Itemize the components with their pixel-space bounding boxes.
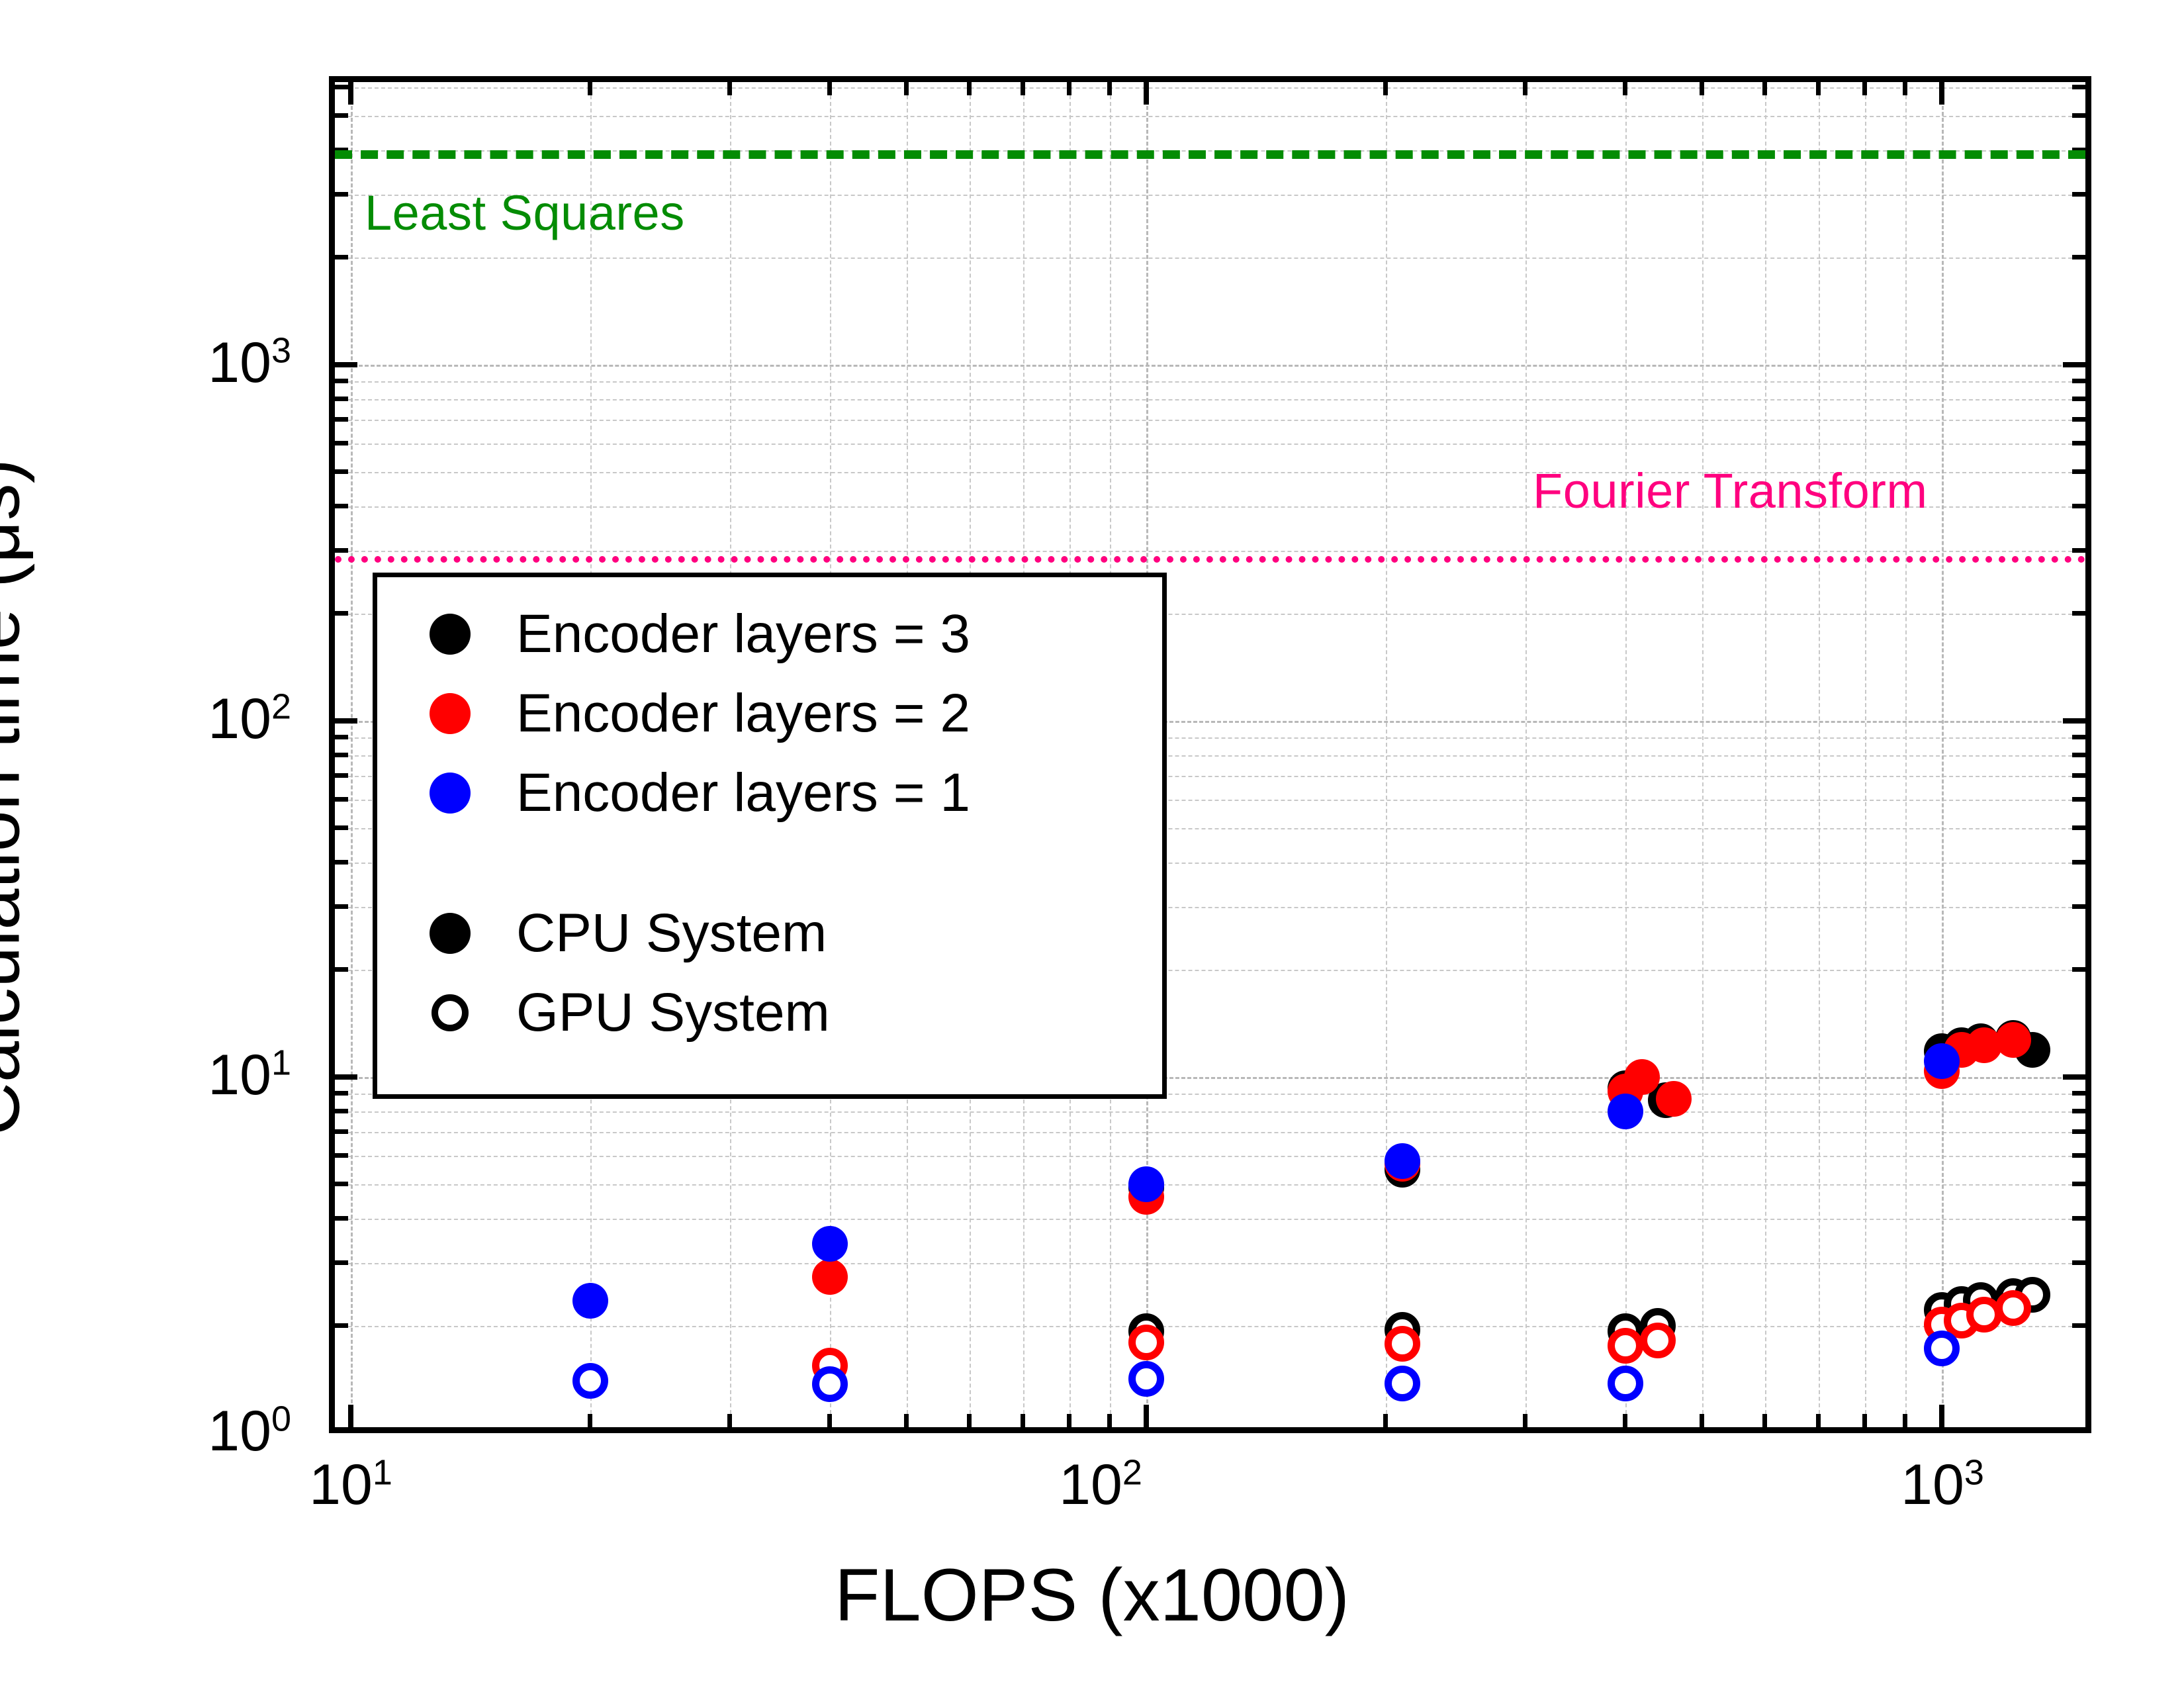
axis-tick: [335, 1129, 348, 1134]
gridline: [1386, 82, 1387, 1427]
gridline: [335, 116, 2085, 117]
axis-tick: [2063, 1074, 2085, 1080]
chart-canvas: Calculation time (μs) 103 102 101 100 10…: [0, 0, 2184, 1688]
axis-tick: [2072, 1153, 2085, 1158]
data-point: [812, 1366, 848, 1402]
fourier-transform-line: [335, 556, 2085, 563]
axis-tick: [2072, 417, 2085, 422]
data-point: [1128, 1361, 1164, 1397]
axis-tick: [335, 797, 348, 802]
axis-tick: [1903, 1414, 1907, 1427]
legend-label: GPU System: [516, 982, 830, 1044]
data-point: [1128, 1325, 1164, 1360]
axis-tick: [348, 1405, 353, 1427]
legend-label: Encoder layers = 2: [516, 682, 970, 745]
axis-tick: [2072, 1129, 2085, 1134]
axis-tick: [2072, 397, 2085, 401]
axis-tick: [335, 1182, 348, 1186]
axis-tick: [2072, 255, 2085, 259]
gridline: [335, 381, 2085, 383]
axis-tick: [1762, 1414, 1767, 1427]
axis-tick: [1523, 82, 1527, 95]
gridline: [1625, 82, 1627, 1427]
least-squares-label: Least Squares: [365, 185, 685, 241]
axis-tick: [1762, 82, 1767, 95]
axis-tick: [1383, 1414, 1388, 1427]
y-tick-label-1000: 103: [26, 334, 291, 391]
least-squares-line: [335, 150, 2085, 159]
data-point: [1656, 1081, 1692, 1117]
data-point: [812, 1259, 848, 1295]
legend-item-cpu-system[interactable]: CPU System: [384, 902, 827, 965]
legend-label: CPU System: [516, 902, 827, 964]
gridline: [335, 1184, 2085, 1186]
x-tick-label-10: 101: [218, 1456, 483, 1513]
axis-tick: [1021, 1414, 1025, 1427]
data-point: [1128, 1166, 1164, 1202]
axis-tick: [2063, 718, 2085, 724]
legend-marker-filled-circle-icon: [384, 913, 516, 954]
axis-tick: [335, 825, 348, 830]
axis-tick: [1816, 1414, 1821, 1427]
gridline: [1765, 82, 1766, 1427]
axis-tick: [2072, 85, 2085, 89]
axis-tick: [335, 548, 348, 553]
axis-tick: [904, 82, 909, 95]
axis-tick: [1383, 82, 1388, 95]
gridline: [1865, 82, 1866, 1427]
axis-tick: [1107, 82, 1112, 95]
axis-tick: [827, 1414, 832, 1427]
axis-tick: [827, 82, 832, 95]
axis-tick: [335, 1091, 348, 1096]
legend-label: Encoder layers = 1: [516, 762, 970, 824]
axis-tick: [2072, 548, 2085, 553]
gridline: [335, 87, 2085, 89]
axis-tick: [335, 469, 348, 474]
axis-tick: [1700, 1414, 1704, 1427]
axis-tick: [1067, 82, 1071, 95]
axis-tick: [335, 397, 348, 401]
data-point: [1608, 1094, 1643, 1129]
axis-tick: [1107, 1414, 1112, 1427]
legend-box: Encoder layers = 3 Encoder layers = 2 En…: [373, 573, 1167, 1099]
axis-tick: [335, 1260, 348, 1265]
axis-tick: [335, 379, 348, 383]
gridline: [335, 420, 2085, 421]
axis-tick: [2072, 825, 2085, 830]
axis-tick: [727, 1414, 732, 1427]
axis-tick: [335, 255, 348, 259]
legend-marker-red-filled-icon: [384, 693, 516, 734]
axis-tick: [1144, 82, 1149, 105]
axis-tick: [335, 611, 348, 616]
axis-tick: [335, 417, 348, 422]
axis-tick: [2072, 379, 2085, 383]
axis-tick: [335, 504, 348, 508]
axis-tick: [1862, 1414, 1867, 1427]
data-point: [1995, 1022, 2031, 1058]
axis-tick: [588, 82, 592, 95]
axis-tick: [335, 1323, 348, 1328]
data-point: [1924, 1043, 1960, 1079]
axis-tick: [2072, 192, 2085, 197]
axis-tick: [2072, 469, 2085, 474]
axis-tick: [2072, 504, 2085, 508]
gridline: [335, 1263, 2085, 1264]
axis-tick: [335, 1109, 348, 1113]
axis-tick: [967, 82, 972, 95]
x-axis-title: FLOPS (x1000): [0, 1552, 2184, 1638]
gridline: [335, 365, 2085, 367]
data-point: [1995, 1290, 2031, 1326]
gridline: [335, 1156, 2085, 1157]
axis-tick: [335, 967, 348, 972]
axis-tick: [2072, 773, 2085, 778]
data-point: [572, 1363, 608, 1399]
gridline: [335, 1219, 2085, 1220]
axis-tick: [1903, 82, 1907, 95]
gridline: [335, 444, 2085, 445]
gridline: [1819, 82, 1820, 1427]
legend-item-encoder-3[interactable]: Encoder layers = 3: [384, 602, 970, 666]
axis-tick: [335, 753, 348, 757]
gridline: [335, 1111, 2085, 1113]
axis-tick: [1816, 82, 1821, 95]
axis-tick: [335, 362, 357, 367]
axis-tick: [1700, 82, 1704, 95]
axis-tick: [335, 773, 348, 778]
gridline: [335, 399, 2085, 400]
data-point: [1924, 1331, 1960, 1366]
axis-tick: [2072, 611, 2085, 616]
gridline: [335, 1326, 2085, 1327]
data-point: [1608, 1366, 1643, 1401]
axis-tick: [1067, 1414, 1071, 1427]
data-point: [1624, 1059, 1660, 1095]
axis-tick: [2072, 753, 2085, 757]
axis-tick: [335, 1153, 348, 1158]
y-tick-label-10: 101: [26, 1047, 291, 1103]
axis-tick: [2072, 441, 2085, 445]
axis-tick: [967, 1414, 972, 1427]
gridline: [335, 258, 2085, 259]
axis-tick: [2072, 1109, 2085, 1113]
axis-tick: [335, 192, 348, 197]
axis-tick: [335, 441, 348, 445]
axis-tick: [335, 718, 357, 724]
axis-tick: [348, 82, 353, 105]
axis-tick: [1939, 82, 1944, 105]
legend-marker-open-circle-icon: [384, 994, 516, 1031]
legend-item-encoder-1[interactable]: Encoder layers = 1: [384, 761, 970, 825]
gridline: [1942, 82, 1944, 1427]
axis-tick: [2072, 1323, 2085, 1328]
gridline: [1525, 82, 1527, 1427]
legend-item-gpu-system[interactable]: GPU System: [384, 981, 830, 1045]
data-point: [1385, 1366, 1420, 1401]
axis-tick: [1021, 82, 1025, 95]
axis-tick: [2072, 797, 2085, 802]
axis-tick: [2072, 967, 2085, 972]
gridline: [1905, 82, 1907, 1427]
y-axis-title: Calculation time (μs): [0, 301, 36, 1294]
axis-tick: [1862, 82, 1867, 95]
axis-tick: [2072, 1091, 2085, 1096]
axis-tick: [2072, 735, 2085, 739]
legend-label: Encoder layers = 3: [516, 603, 970, 665]
y-tick-label-1: 100: [26, 1403, 291, 1460]
data-point: [572, 1283, 608, 1319]
axis-tick: [335, 735, 348, 739]
axis-tick: [335, 113, 348, 118]
axis-tick: [1939, 1405, 1944, 1427]
fourier-transform-label: Fourier Transform: [1533, 463, 1928, 519]
legend-marker-blue-filled-icon: [384, 773, 516, 814]
axis-tick: [2072, 113, 2085, 118]
legend-marker-black-filled-icon: [384, 614, 516, 655]
legend-item-encoder-2[interactable]: Encoder layers = 2: [384, 682, 970, 745]
axis-tick: [335, 904, 348, 909]
gridline: [335, 1132, 2085, 1133]
axis-tick: [588, 1414, 592, 1427]
axis-tick: [2072, 904, 2085, 909]
axis-tick: [1623, 82, 1627, 95]
x-tick-label-1000: 103: [1810, 1456, 2075, 1513]
axis-tick: [2072, 860, 2085, 865]
axis-tick: [2072, 1182, 2085, 1186]
axis-tick: [335, 1074, 357, 1080]
gridline: [335, 551, 2085, 552]
data-point: [1608, 1328, 1643, 1364]
data-point: [812, 1226, 848, 1262]
x-tick-label-100: 102: [968, 1456, 1233, 1513]
axis-tick: [335, 860, 348, 865]
gridline: [1702, 82, 1704, 1427]
axis-tick: [1523, 1414, 1527, 1427]
axis-tick: [1623, 1414, 1627, 1427]
axis-tick: [1144, 1405, 1149, 1427]
axis-tick: [2063, 362, 2085, 367]
y-tick-label-100: 102: [26, 690, 291, 747]
axis-tick: [904, 1414, 909, 1427]
axis-tick: [2072, 1260, 2085, 1265]
axis-tick: [335, 85, 348, 89]
axis-tick: [2072, 1216, 2085, 1221]
axis-tick: [727, 82, 732, 95]
axis-tick: [335, 1216, 348, 1221]
gridline: [351, 82, 353, 1427]
